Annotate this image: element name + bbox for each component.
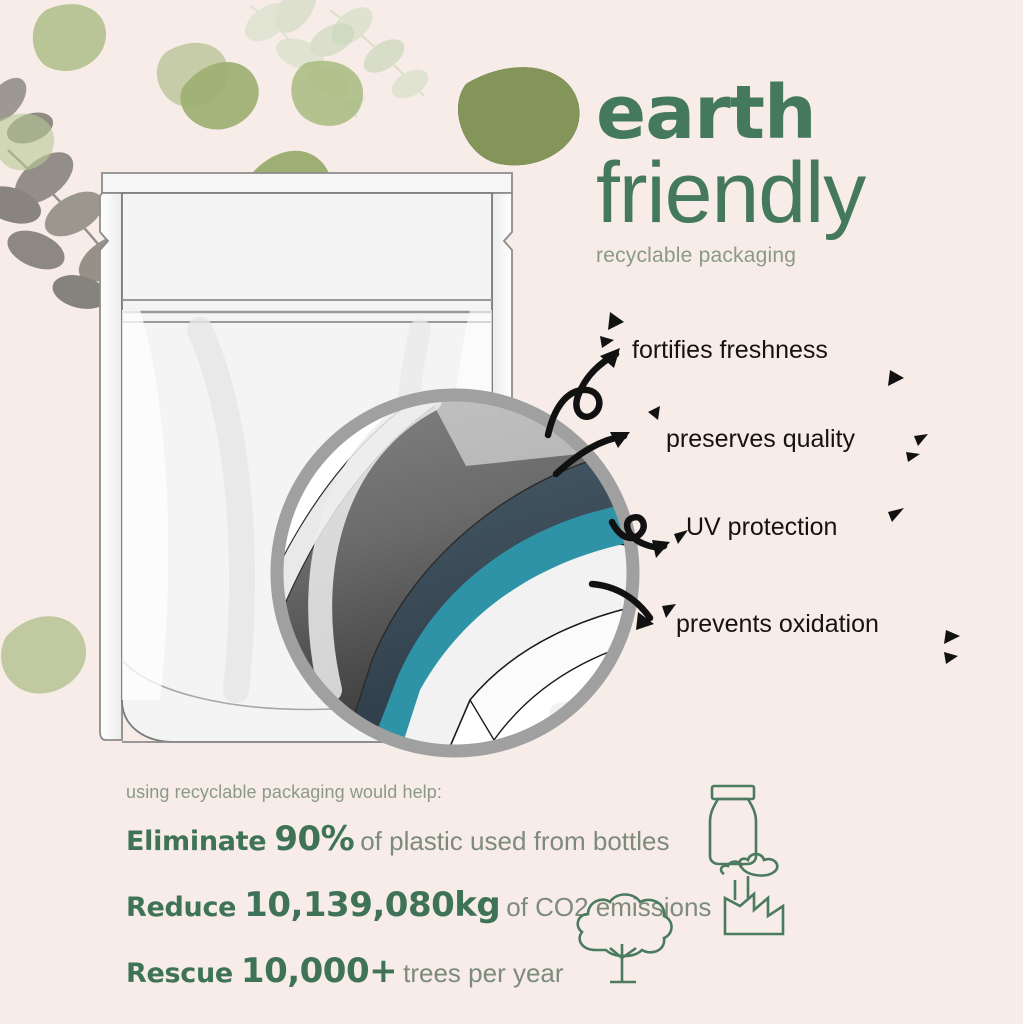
statistic-icons: [0, 0, 1023, 1024]
factory-icon: [721, 854, 783, 934]
infographic-canvas: earth friendly recyclable packaging fort…: [0, 0, 1023, 1024]
tree-icon: [578, 895, 672, 983]
bottle-icon: [710, 786, 756, 864]
